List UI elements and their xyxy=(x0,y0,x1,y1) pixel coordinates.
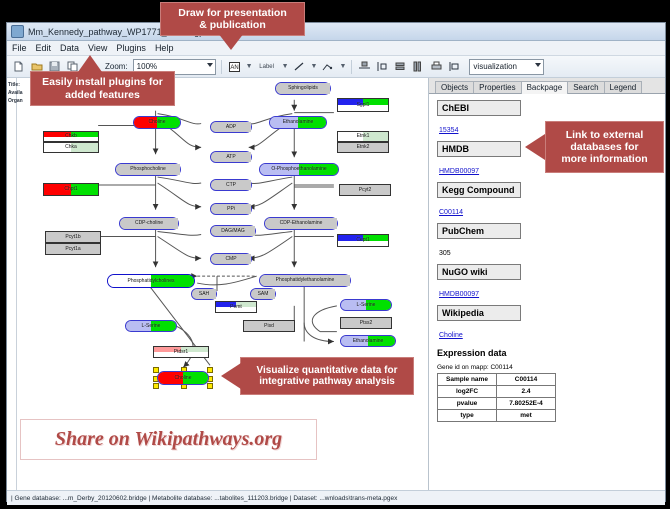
expression-key: pvalue xyxy=(438,398,497,410)
share-banner-text: Share on Wikipathways.org xyxy=(55,428,282,451)
svg-text:AN: AN xyxy=(230,65,238,71)
line-tool-icon[interactable] xyxy=(292,59,307,74)
node-label: Etnk1 xyxy=(357,134,370,139)
gene-node-chpt1[interactable]: Chpt1 xyxy=(43,183,99,196)
metabolite-node-o-phosphoethanolamine[interactable]: O-Phosphoethanolamine xyxy=(259,163,339,176)
metabolite-node-choline-top[interactable]: Choline xyxy=(133,116,181,129)
metabolite-node-sah[interactable]: SAH xyxy=(191,288,217,300)
node-label: SAH xyxy=(199,292,209,297)
menu-item-plugins[interactable]: Plugins xyxy=(116,43,146,53)
expression-key: log2FC xyxy=(438,386,497,398)
gene-id-line: Gene id on mapp: C00114 xyxy=(437,364,665,371)
menu-bar[interactable]: File Edit Data View Plugins Help xyxy=(7,41,665,56)
node-label: CTP xyxy=(226,183,236,188)
metabolite-node-sphingolipids[interactable]: Sphingolipids xyxy=(275,82,331,95)
chevron-down-icon-visualization[interactable] xyxy=(535,63,541,67)
callout-plugins-arrow xyxy=(78,55,102,72)
selection-handle[interactable] xyxy=(207,383,213,389)
metabolite-node-ctp[interactable]: CTP xyxy=(210,179,252,191)
node-label: Pcyt1a xyxy=(65,247,80,252)
node-label: ADP xyxy=(226,125,236,130)
metabolite-node-phosphocholine[interactable]: Phosphocholine xyxy=(115,163,181,176)
screenshot-root: Mm_Kennedy_pathway_WP1771_45176.gpml Fil… xyxy=(0,0,670,509)
stack-tool-icon[interactable] xyxy=(393,59,408,74)
menu-item-help[interactable]: Help xyxy=(155,43,174,53)
chevron-down-icon[interactable] xyxy=(207,63,213,67)
tab-legend[interactable]: Legend xyxy=(604,81,643,93)
new-file-icon[interactable] xyxy=(11,59,26,74)
metabolite-node-ethanolamine-2[interactable]: Ethanolamine xyxy=(340,335,396,347)
node-label: Choline xyxy=(149,120,166,125)
database-header-nugo-wiki: NuGO wiki xyxy=(437,264,521,280)
interaction-dropdown-icon[interactable]: ▼ xyxy=(339,63,346,70)
node-label: Chpt1 xyxy=(64,187,77,192)
metabolite-node-sam[interactable]: SAM xyxy=(250,288,276,300)
menu-item-file[interactable]: File xyxy=(12,43,27,53)
zoom-label: Zoom: xyxy=(105,62,128,71)
metabolite-node-phosphatidylethanolamine[interactable]: Phosphatidylethanolamine xyxy=(259,274,351,287)
node-label: Phosphatidylcholines xyxy=(128,279,175,284)
callout-visualize: Visualize quantitative data forintegrati… xyxy=(240,357,414,395)
zoom-value: 100% xyxy=(137,62,157,71)
database-entry: 305 xyxy=(437,242,665,264)
database-entry: HMDB00097 xyxy=(437,283,665,305)
gene-node-pisd[interactable]: Pisd xyxy=(243,320,295,332)
node-label: Chka xyxy=(65,145,77,150)
node-label: Ethanolamine xyxy=(353,339,384,344)
callout-links-arrow xyxy=(525,134,545,160)
label-tool[interactable]: Label xyxy=(256,59,278,74)
callout-visualize-arrow xyxy=(221,363,241,389)
tab-objects[interactable]: Objects xyxy=(435,81,474,93)
node-label: O-Phosphoethanolamine xyxy=(271,167,326,172)
database-value-wikipedia[interactable]: Choline xyxy=(439,332,463,339)
gene-node-chka[interactable]: Chka xyxy=(43,142,99,153)
gene-node-ptss2[interactable]: Ptss2 xyxy=(340,317,392,329)
node-label: L-Serine xyxy=(357,303,376,308)
node-label: Ethanolamine xyxy=(283,120,314,125)
expression-data-heading: Expression data xyxy=(437,348,665,358)
node-label: ATP xyxy=(226,155,235,160)
database-header-kegg-compound: Kegg Compound xyxy=(437,182,521,198)
database-value-hmdb[interactable]: HMDB00097 xyxy=(439,168,479,175)
node-label: Pcyt1b xyxy=(65,235,80,240)
metabolite-node-ppi[interactable]: PPi xyxy=(210,203,252,215)
interaction-tool-icon[interactable] xyxy=(320,59,335,74)
metabolite-node-l-serine-right[interactable]: L-Serine xyxy=(340,299,392,311)
database-entry: C00114 xyxy=(437,201,665,223)
expression-row: typemet xyxy=(438,410,556,422)
toolbar-separator-2 xyxy=(351,60,352,74)
gene-node-sgpl1[interactable]: Sgpl1 xyxy=(337,98,389,112)
database-entry: Choline xyxy=(437,324,665,346)
gene-node-pcyt1a[interactable]: Pcyt1a xyxy=(45,243,101,255)
node-label: L-Serine xyxy=(142,324,161,329)
gene-node-ptdsr1[interactable]: Ptdsr1 xyxy=(153,346,209,358)
node-label: Ptdsr1 xyxy=(174,350,188,355)
database-value-chebi[interactable]: 15354 xyxy=(439,127,458,134)
expression-data-table: Sample nameC00114log2FC2.4pvalue7.80252E… xyxy=(437,373,556,422)
node-label: CDP-choline xyxy=(135,221,163,226)
share-banner: Share on Wikipathways.org xyxy=(20,419,317,460)
expression-value: 7.80252E-4 xyxy=(497,398,556,410)
selection-handle[interactable] xyxy=(207,367,213,373)
menu-item-data[interactable]: Data xyxy=(60,43,79,53)
expression-row: Sample nameC00114 xyxy=(438,374,556,386)
node-label: Phosphocholine xyxy=(130,167,166,172)
metabolite-node-ethanolamine-1[interactable]: Ethanolamine xyxy=(269,116,327,129)
gene-node-pcyt1b[interactable]: Pcyt1b xyxy=(45,231,101,243)
datanode-dropdown-icon[interactable]: ▼ xyxy=(246,63,253,70)
selection-handle[interactable] xyxy=(153,383,159,389)
label-dropdown-icon[interactable]: ▼ xyxy=(282,63,289,70)
visualization-combo[interactable]: visualization xyxy=(469,59,544,75)
gene-node-pemt[interactable]: Pemt xyxy=(215,301,257,313)
datanode-tool-icon[interactable]: AN xyxy=(227,59,242,74)
order-tool-icon[interactable] xyxy=(447,59,462,74)
expression-key: Sample name xyxy=(438,374,497,386)
metabolite-node-cmp[interactable]: CMP xyxy=(210,253,252,265)
gene-node-pcyt2[interactable]: Pcyt2 xyxy=(339,184,391,196)
tab-search[interactable]: Search xyxy=(567,81,604,93)
metabolite-node-dag-mag[interactable]: DAG/MAG xyxy=(210,225,256,237)
size-tool-icon[interactable] xyxy=(411,59,426,74)
metabolite-node-atp[interactable]: ATP xyxy=(210,151,252,163)
callout-plugins: Easily install plugins foradded features xyxy=(30,71,175,106)
metabolite-node-choline-selected[interactable]: Choline xyxy=(157,371,209,385)
node-label: Cept1 xyxy=(356,238,369,243)
node-label: PPi xyxy=(227,207,235,212)
menu-item-view[interactable]: View xyxy=(88,43,107,53)
node-label: Pemt xyxy=(230,305,242,310)
metabolite-node-cdp-ethanolamine[interactable]: CDP-Ethanolamine xyxy=(264,217,338,230)
node-label: CDP-Ethanolamine xyxy=(280,221,323,226)
expression-key: type xyxy=(438,410,497,422)
node-label: Pcyt2 xyxy=(359,188,372,193)
app-icon xyxy=(11,25,24,38)
node-label: Pisd xyxy=(264,324,274,329)
gene-node-cept1[interactable]: Cept1 xyxy=(337,234,389,247)
gene-node-etnk2[interactable]: Etnk2 xyxy=(337,142,389,153)
title-bar: Mm_Kennedy_pathway_WP1771_45176.gpml xyxy=(7,23,665,41)
database-value-nugo-wiki[interactable]: HMDB00097 xyxy=(439,291,479,298)
node-label: CMP xyxy=(225,257,236,262)
status-bar: | Gene database: ...m_Derby_20120602.bri… xyxy=(7,490,665,505)
metabolite-node-cdp-choline[interactable]: CDP-choline xyxy=(119,217,179,230)
database-value-pubchem: 305 xyxy=(439,250,451,257)
gene-node-etnk1[interactable]: Etnk1 xyxy=(337,131,389,142)
expression-row: log2FC2.4 xyxy=(438,386,556,398)
node-label: Choline xyxy=(175,376,192,381)
node-label: Sgpl1 xyxy=(357,103,370,108)
callout-links: Link to externaldatabases formore inform… xyxy=(545,121,664,173)
distribute-tool-icon[interactable] xyxy=(375,59,390,74)
node-label: Ptss2 xyxy=(360,321,373,326)
node-label: Chkb xyxy=(65,134,77,139)
menu-item-edit[interactable]: Edit xyxy=(36,43,52,53)
node-label: SAM xyxy=(258,292,269,297)
node-label: Sphingolipids xyxy=(288,86,318,91)
print-tool-icon[interactable] xyxy=(429,59,444,74)
line-dropdown-icon[interactable]: ▼ xyxy=(311,63,318,70)
metabolite-node-phosphatidylcholines[interactable]: Phosphatidylcholines xyxy=(107,274,195,288)
align-tool-icon[interactable] xyxy=(357,59,372,74)
database-header-wikipedia: Wikipedia xyxy=(437,305,521,321)
database-header-hmdb: HMDB xyxy=(437,141,521,157)
expression-row: pvalue7.80252E-4 xyxy=(438,398,556,410)
metabolite-node-adp[interactable]: ADP xyxy=(210,121,252,133)
database-value-kegg-compound[interactable]: C00114 xyxy=(439,209,463,216)
database-header-pubchem: PubChem xyxy=(437,223,521,239)
visualization-value: visualization xyxy=(473,62,517,71)
expression-value: C00114 xyxy=(497,374,556,386)
gene-node-chkb[interactable]: Chkb xyxy=(43,131,99,142)
callout-draw-arrow xyxy=(218,33,244,50)
tab-properties[interactable]: Properties xyxy=(473,81,521,93)
node-label: DAG/MAG xyxy=(221,229,245,234)
metabolite-node-l-serine-left[interactable]: L-Serine xyxy=(125,320,177,332)
callout-draw: Draw for presentation& publication xyxy=(160,2,305,36)
side-panel-tabs[interactable]: ObjectsPropertiesBackpageSearchLegend xyxy=(429,78,665,94)
expression-value: met xyxy=(497,410,556,422)
node-label: Etnk2 xyxy=(357,145,370,150)
node-label: Phosphatidylethanolamine xyxy=(276,278,335,283)
tab-backpage[interactable]: Backpage xyxy=(521,81,569,94)
database-header-chebi: ChEBI xyxy=(437,100,521,116)
expression-value: 2.4 xyxy=(497,386,556,398)
status-text: | Gene database: ...m_Derby_20120602.bri… xyxy=(11,495,397,502)
toolbar-separator xyxy=(221,60,222,74)
